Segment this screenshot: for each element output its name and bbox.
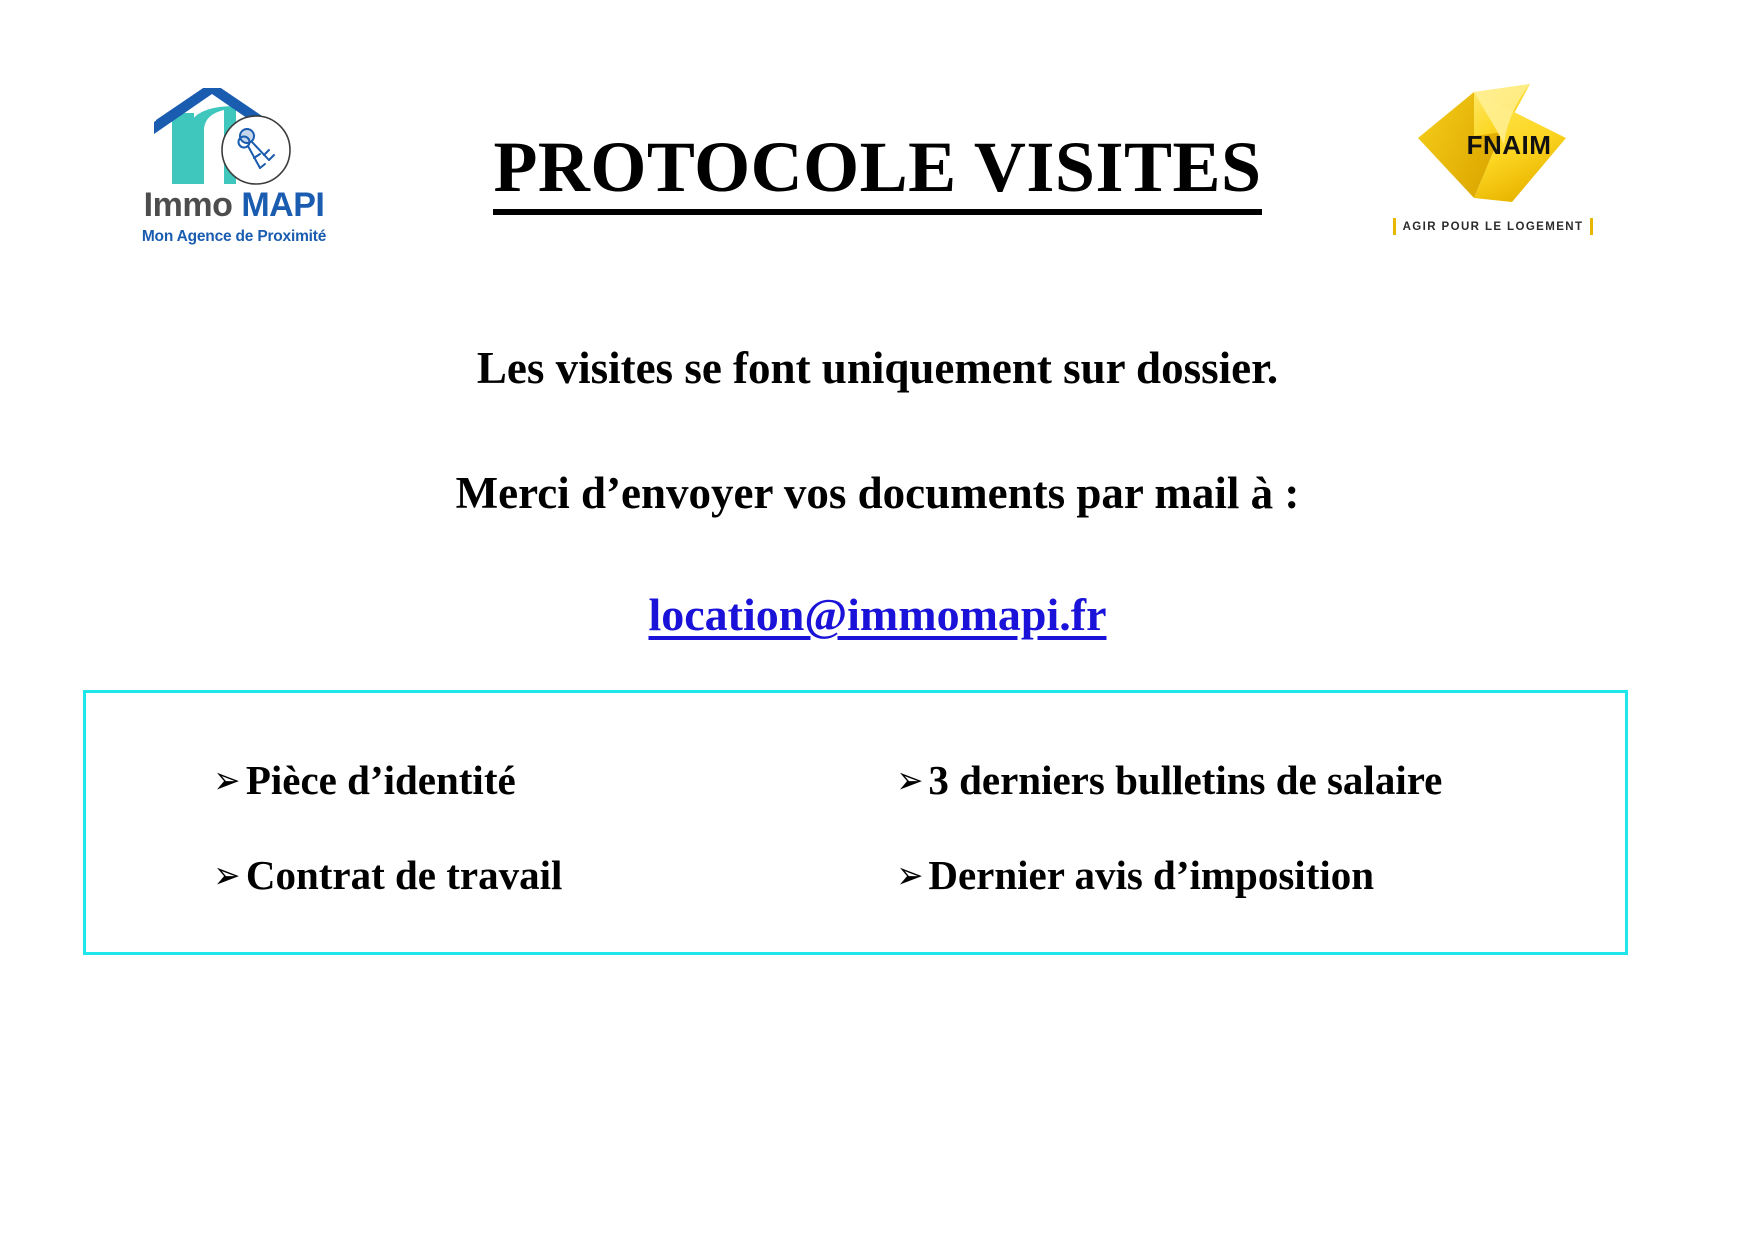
intro-line-1: Les visites se font uniquement sur dossi… <box>0 344 1755 394</box>
gold-cube-icon <box>1412 78 1572 213</box>
page-title-text: PROTOCOLE VISITES <box>493 127 1261 215</box>
intro-line-2: Merci d’envoyer vos documents par mail à… <box>0 469 1755 519</box>
document-item-label: 3 derniers bulletins de salaire <box>928 756 1442 804</box>
arrow-bullet-icon: ➢ <box>896 856 923 894</box>
fnaim-bar-left <box>1393 218 1396 235</box>
fnaim-logo: FNAIM AGIR POUR LE LOGEMENT <box>1398 78 1588 248</box>
immo-mapi-tagline: Mon Agence de Proximité <box>84 228 384 246</box>
arrow-bullet-icon: ➢ <box>213 761 240 799</box>
email-line: location@immomapi.fr <box>0 590 1755 641</box>
page-header: Immo MAPI Mon Agence de Proximité PROTOC… <box>0 0 1755 270</box>
fnaim-bar-right <box>1590 218 1593 235</box>
document-item-tax-notice: ➢ Dernier avis d’imposition <box>856 851 1626 899</box>
required-documents-grid: ➢ Pièce d’identité ➢ 3 derniers bulletin… <box>86 693 1625 952</box>
document-item-work-contract: ➢ Contrat de travail <box>86 851 856 899</box>
fnaim-tagline-row: AGIR POUR LE LOGEMENT <box>1398 218 1588 235</box>
email-link[interactable]: location@immomapi.fr <box>648 589 1106 640</box>
document-item-label: Pièce d’identité <box>246 756 516 804</box>
document-item-label: Contrat de travail <box>246 851 563 899</box>
arrow-bullet-icon: ➢ <box>896 761 923 799</box>
fnaim-tagline: AGIR POUR LE LOGEMENT <box>1403 221 1584 233</box>
body-text-block: Les visites se font uniquement sur dossi… <box>0 330 1755 641</box>
required-documents-box: ➢ Pièce d’identité ➢ 3 derniers bulletin… <box>83 690 1628 955</box>
document-item-label: Dernier avis d’imposition <box>928 851 1374 899</box>
arrow-bullet-icon: ➢ <box>213 856 240 894</box>
document-item-payslips: ➢ 3 derniers bulletins de salaire <box>856 756 1626 804</box>
document-item-identity: ➢ Pièce d’identité <box>86 756 856 804</box>
